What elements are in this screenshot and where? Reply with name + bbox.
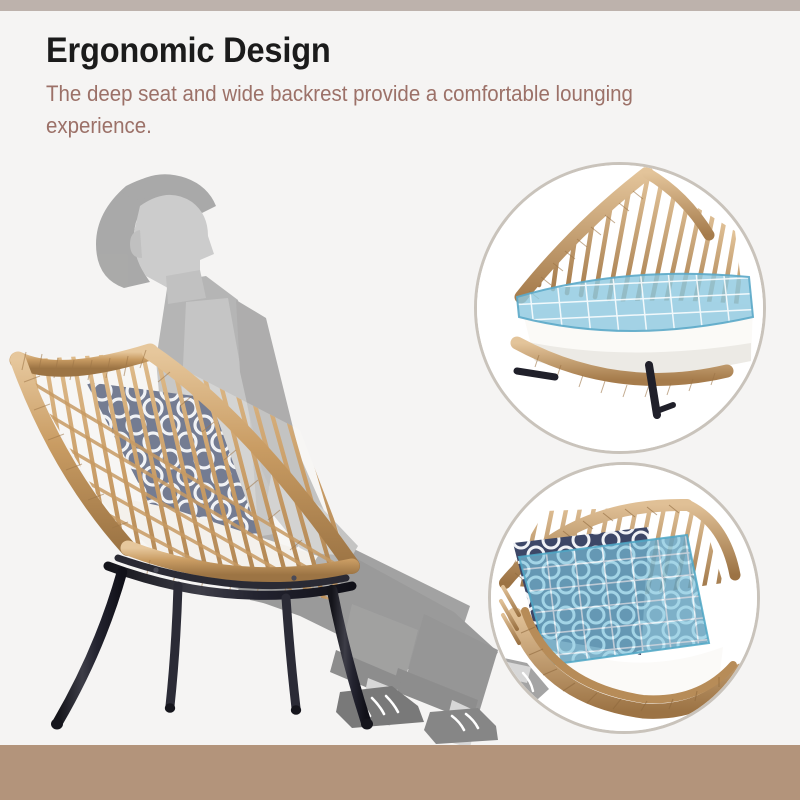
bottom-accent-bar [0, 745, 800, 800]
chair-foot-caps [51, 703, 373, 729]
inset-backrest-pillow-detail [488, 462, 760, 734]
inset-seat-depth-detail [474, 162, 766, 454]
chair-leg-back-right [286, 598, 296, 708]
product-feature-page: Ergonomic Design The deep seat and wide … [0, 0, 800, 800]
chair-rim-back [18, 352, 150, 368]
chair-leg-front-left [58, 572, 122, 722]
person-neck [166, 270, 206, 304]
chair-leg-back-left [170, 586, 178, 706]
